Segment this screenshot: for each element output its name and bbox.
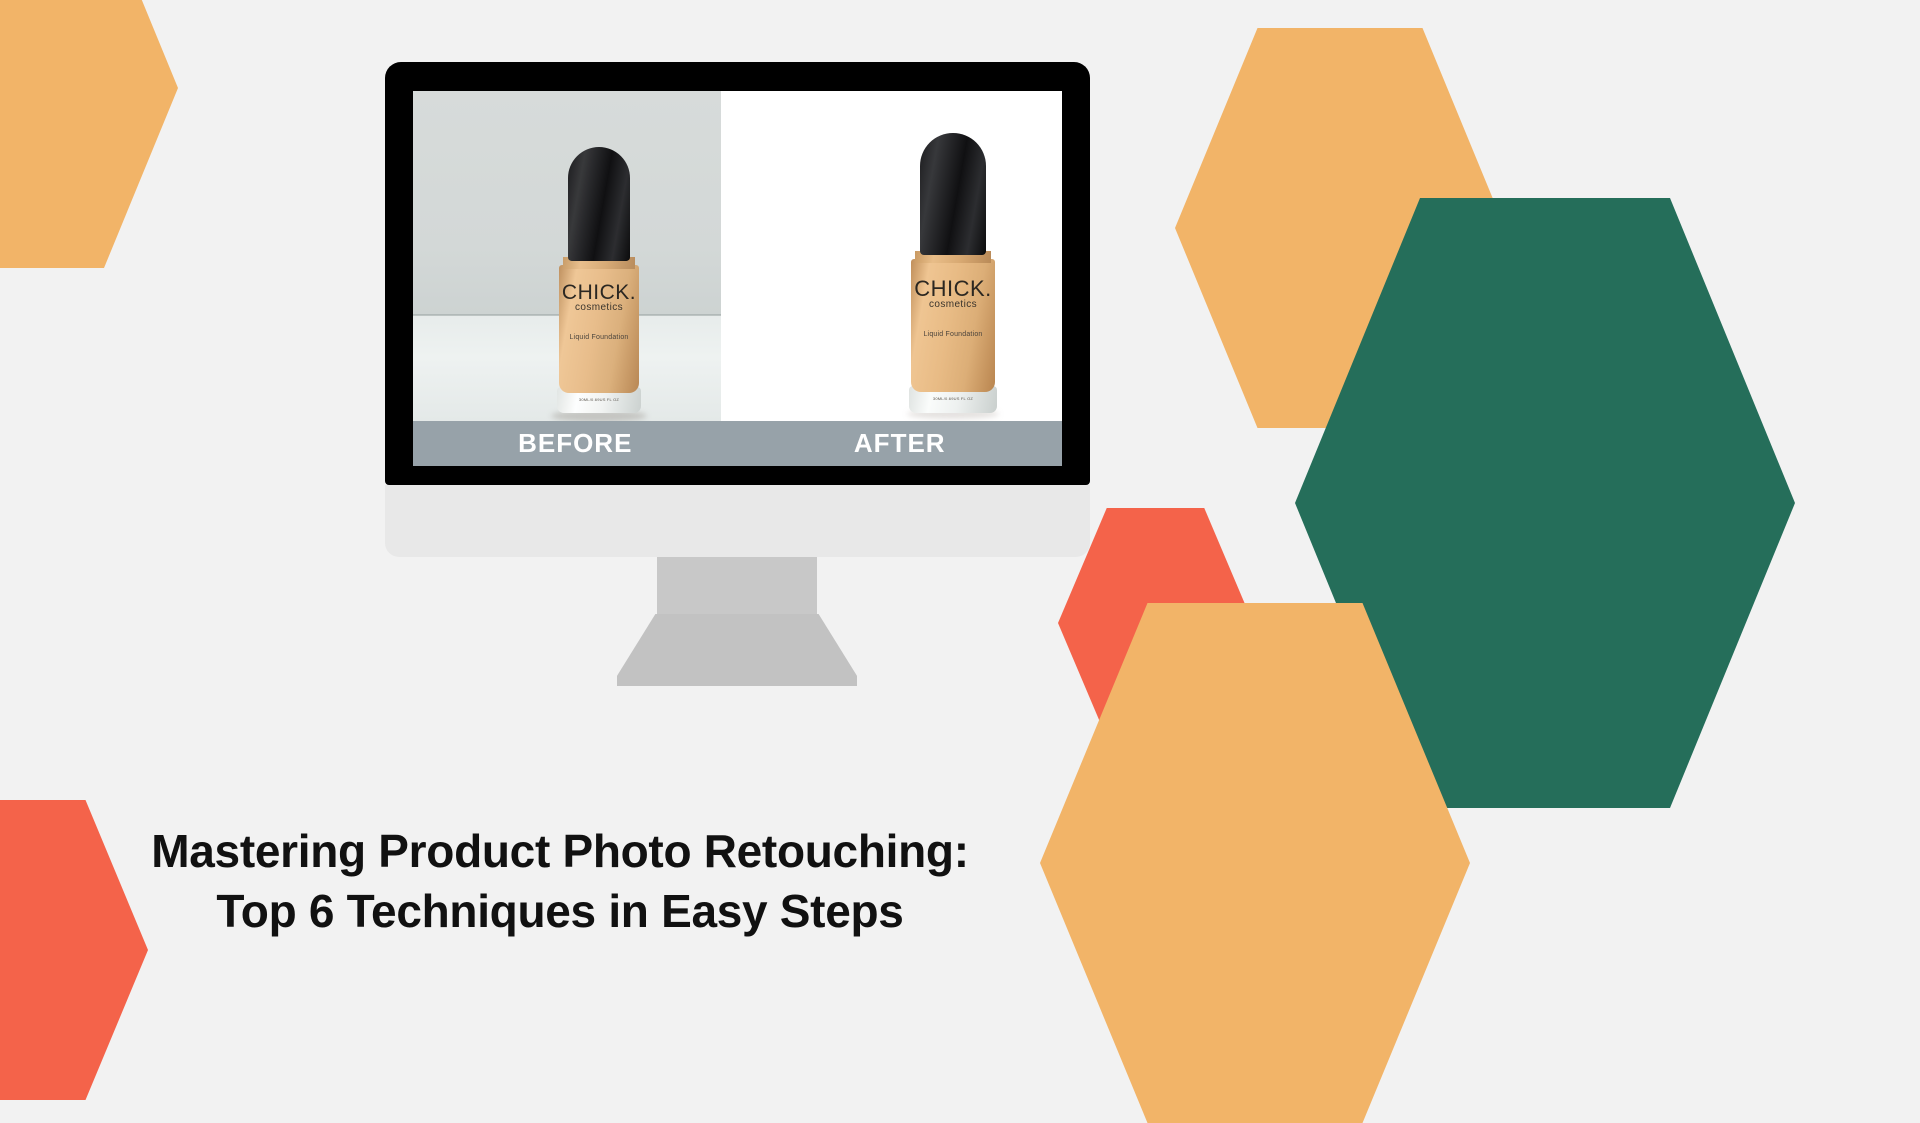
page-title: Mastering Product Photo Retouching: Top … [0,822,1120,942]
bottle-cap-after [920,133,986,255]
bottle-cap-before [568,147,630,261]
monitor-stand-base [617,614,857,686]
bottle-volume-before: 30ML/0.69US FL OZ [579,397,619,402]
monitor-screen: CHICK. cosmetics Liquid Foundation 30ML/… [413,91,1062,466]
bottle-subbrand-before: cosmetics [575,302,623,313]
desktop-monitor-illustration: CHICK. cosmetics Liquid Foundation 30ML/… [385,62,1090,642]
before-photo: CHICK. cosmetics Liquid Foundation 30ML/… [413,91,721,421]
bottle-product-before: Liquid Foundation [569,334,628,341]
after-caption: AFTER [738,428,1063,459]
before-after-caption-bar: BEFORE AFTER [413,421,1062,466]
monitor-bezel: CHICK. cosmetics Liquid Foundation 30ML/… [385,62,1090,485]
foundation-bottle-before: CHICK. cosmetics Liquid Foundation 30ML/… [539,129,659,419]
bottle-product-after: Liquid Foundation [923,331,982,338]
hexagon-top-left-shape [0,0,178,268]
bottle-subbrand-after: cosmetics [929,299,977,310]
bottle-volume-after: 30ML/0.69US FL OZ [933,396,973,401]
after-photo: CHICK. cosmetics Liquid Foundation 30ML/… [721,91,1062,421]
before-caption: BEFORE [413,428,738,459]
foundation-bottle-after: CHICK. cosmetics Liquid Foundation 30ML/… [889,119,1017,419]
before-after-photo-area: CHICK. cosmetics Liquid Foundation 30ML/… [413,91,1062,421]
monitor-chin [385,485,1090,557]
